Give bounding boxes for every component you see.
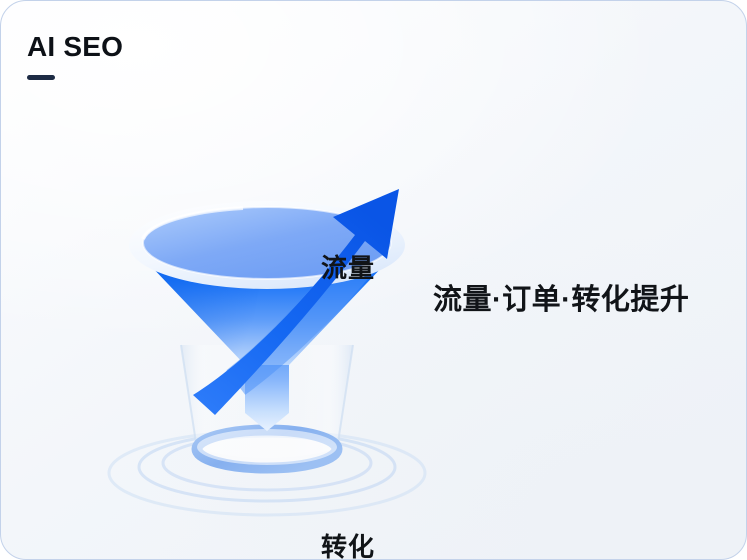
funnel-label-conversion: 转化	[321, 527, 375, 560]
title-underline-rule	[27, 75, 55, 80]
tagline-text: 流量·订单·转化提升	[433, 276, 689, 318]
funnel-graphic	[97, 93, 437, 533]
page-title: AI SEO	[27, 33, 327, 61]
funnel-label-traffic: 流量	[321, 248, 375, 285]
funnel-illustration: 流量 转化	[97, 93, 437, 533]
title-block: AI SEO	[27, 33, 327, 80]
illustration-card: AI SEO 流量·订单·转化提升	[0, 0, 747, 560]
